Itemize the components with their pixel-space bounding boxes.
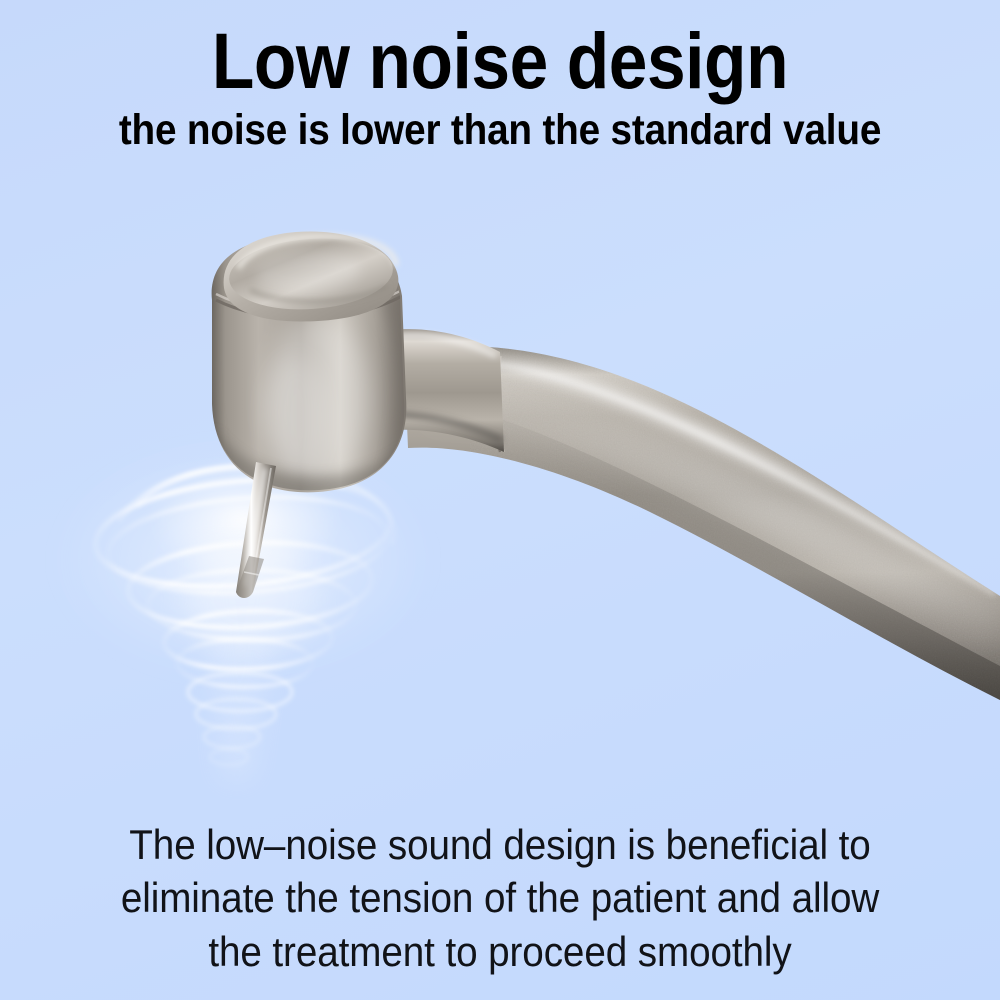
page-subtitle: the noise is lower than the standard val… [50,105,950,156]
header-text-block: Low noise design the noise is lower than… [0,22,1000,156]
promo-banner: Low noise design the noise is lower than… [0,0,1000,1000]
footer-line-3: the treatment to proceed smoothly [40,925,960,978]
footer-line-1: The low–noise sound design is beneficial… [40,818,960,871]
footer-text-block: The low–noise sound design is beneficial… [0,818,1000,978]
footer-line-2: eliminate the tension of the patient and… [40,871,960,924]
page-title: Low noise design [60,22,940,99]
push-button-cap[interactable] [224,231,399,321]
drill-bur [236,462,276,598]
